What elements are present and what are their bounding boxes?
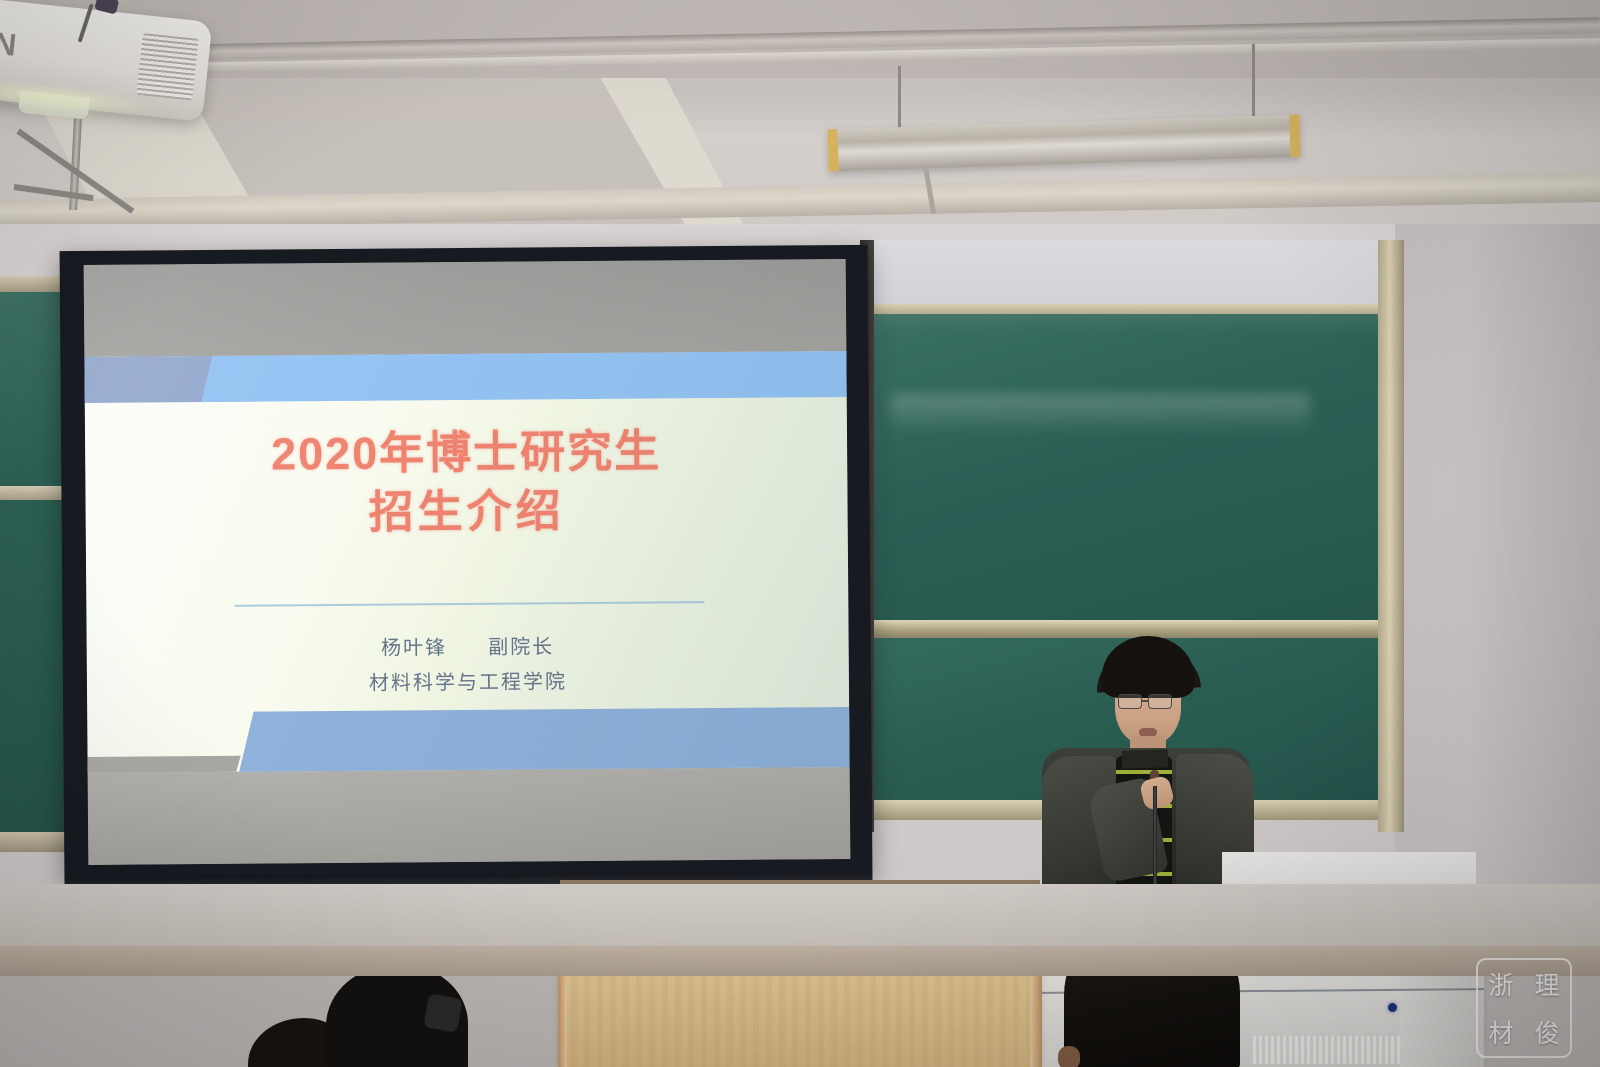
right-wall-panel <box>1395 224 1600 944</box>
light-endcap-right <box>1289 115 1300 157</box>
audience-ear <box>1058 1046 1080 1067</box>
slide-title: 2020年博士研究生 招生介绍 <box>85 421 848 544</box>
photo-watermark: 浙 理 材 俊 <box>1476 958 1572 1058</box>
slide-subtitle-block: 杨叶锋 副院长 材料科学与工程学院 <box>87 628 850 704</box>
chalkboard-glare <box>890 394 1310 434</box>
slide-presenter-name: 杨叶锋 <box>381 637 447 660</box>
slide-title-line-1: 2020年博士研究生 <box>85 421 847 485</box>
watermark-char-2: 理 <box>1524 960 1570 1008</box>
slide-divider-line <box>234 601 704 606</box>
projection-screen-surface: 2020年博士研究生 招生介绍 杨叶锋 副院长 材料科学与工程学院 http:/… <box>84 259 851 865</box>
projector-cable <box>78 3 94 42</box>
audience-glasses <box>423 993 462 1032</box>
light-hanger-rod-right <box>1252 44 1255 122</box>
lecture-hall-scene: SON <box>0 0 1600 1067</box>
slide-presenter-row: 杨叶锋 副院长 <box>87 628 849 669</box>
watermark-char-4: 俊 <box>1524 1008 1570 1056</box>
projection-screen-frame: 2020年博士研究生 招生介绍 杨叶锋 副院长 材料科学与工程学院 http:/… <box>60 245 873 879</box>
presenter-glasses-left-lens <box>1118 694 1142 709</box>
lectern-vent-grille <box>1250 1036 1400 1064</box>
watermark-char-1: 浙 <box>1478 960 1524 1008</box>
slide-bottom-band-diagonal <box>238 706 850 773</box>
watermark-char-3: 材 <box>1478 1008 1524 1056</box>
right-chalkboard-upper <box>870 314 1390 659</box>
lower-wall <box>0 884 1600 954</box>
microphone-stem <box>1153 786 1157 894</box>
presenter-glasses-right-lens <box>1148 694 1172 709</box>
wall-panel-above-chalkboard <box>866 240 1396 314</box>
presentation-slide: 2020年博士研究生 招生介绍 杨叶锋 副院长 材料科学与工程学院 http:/… <box>84 351 849 773</box>
baseboard <box>0 946 1600 976</box>
slide-title-line-2: 招生介绍 <box>85 480 847 544</box>
presenter-hair <box>1102 636 1194 698</box>
slide-bottom-band-accent <box>84 756 240 773</box>
slide-top-band-diagonal <box>201 351 849 402</box>
projector-cable-knob <box>94 0 119 15</box>
slide-organization: 材料科学与工程学院 <box>87 663 849 704</box>
light-endcap-left <box>827 129 838 171</box>
presenter-collar <box>1122 749 1169 769</box>
screen-unlit-top-band <box>84 259 847 357</box>
projector-vent-grille <box>137 33 199 101</box>
slide-presenter-title: 副院长 <box>488 636 554 659</box>
screen-unlit-bottom-band <box>88 767 851 865</box>
lectern-power-led <box>1388 1003 1397 1012</box>
light-hanger-rod-left <box>898 66 901 130</box>
right-chalkboard-right-frame <box>1378 240 1404 832</box>
projector-brand-label: SON <box>0 21 19 64</box>
ceiling-projector: SON <box>0 0 212 122</box>
presenter-glasses-bridge <box>1142 700 1148 702</box>
